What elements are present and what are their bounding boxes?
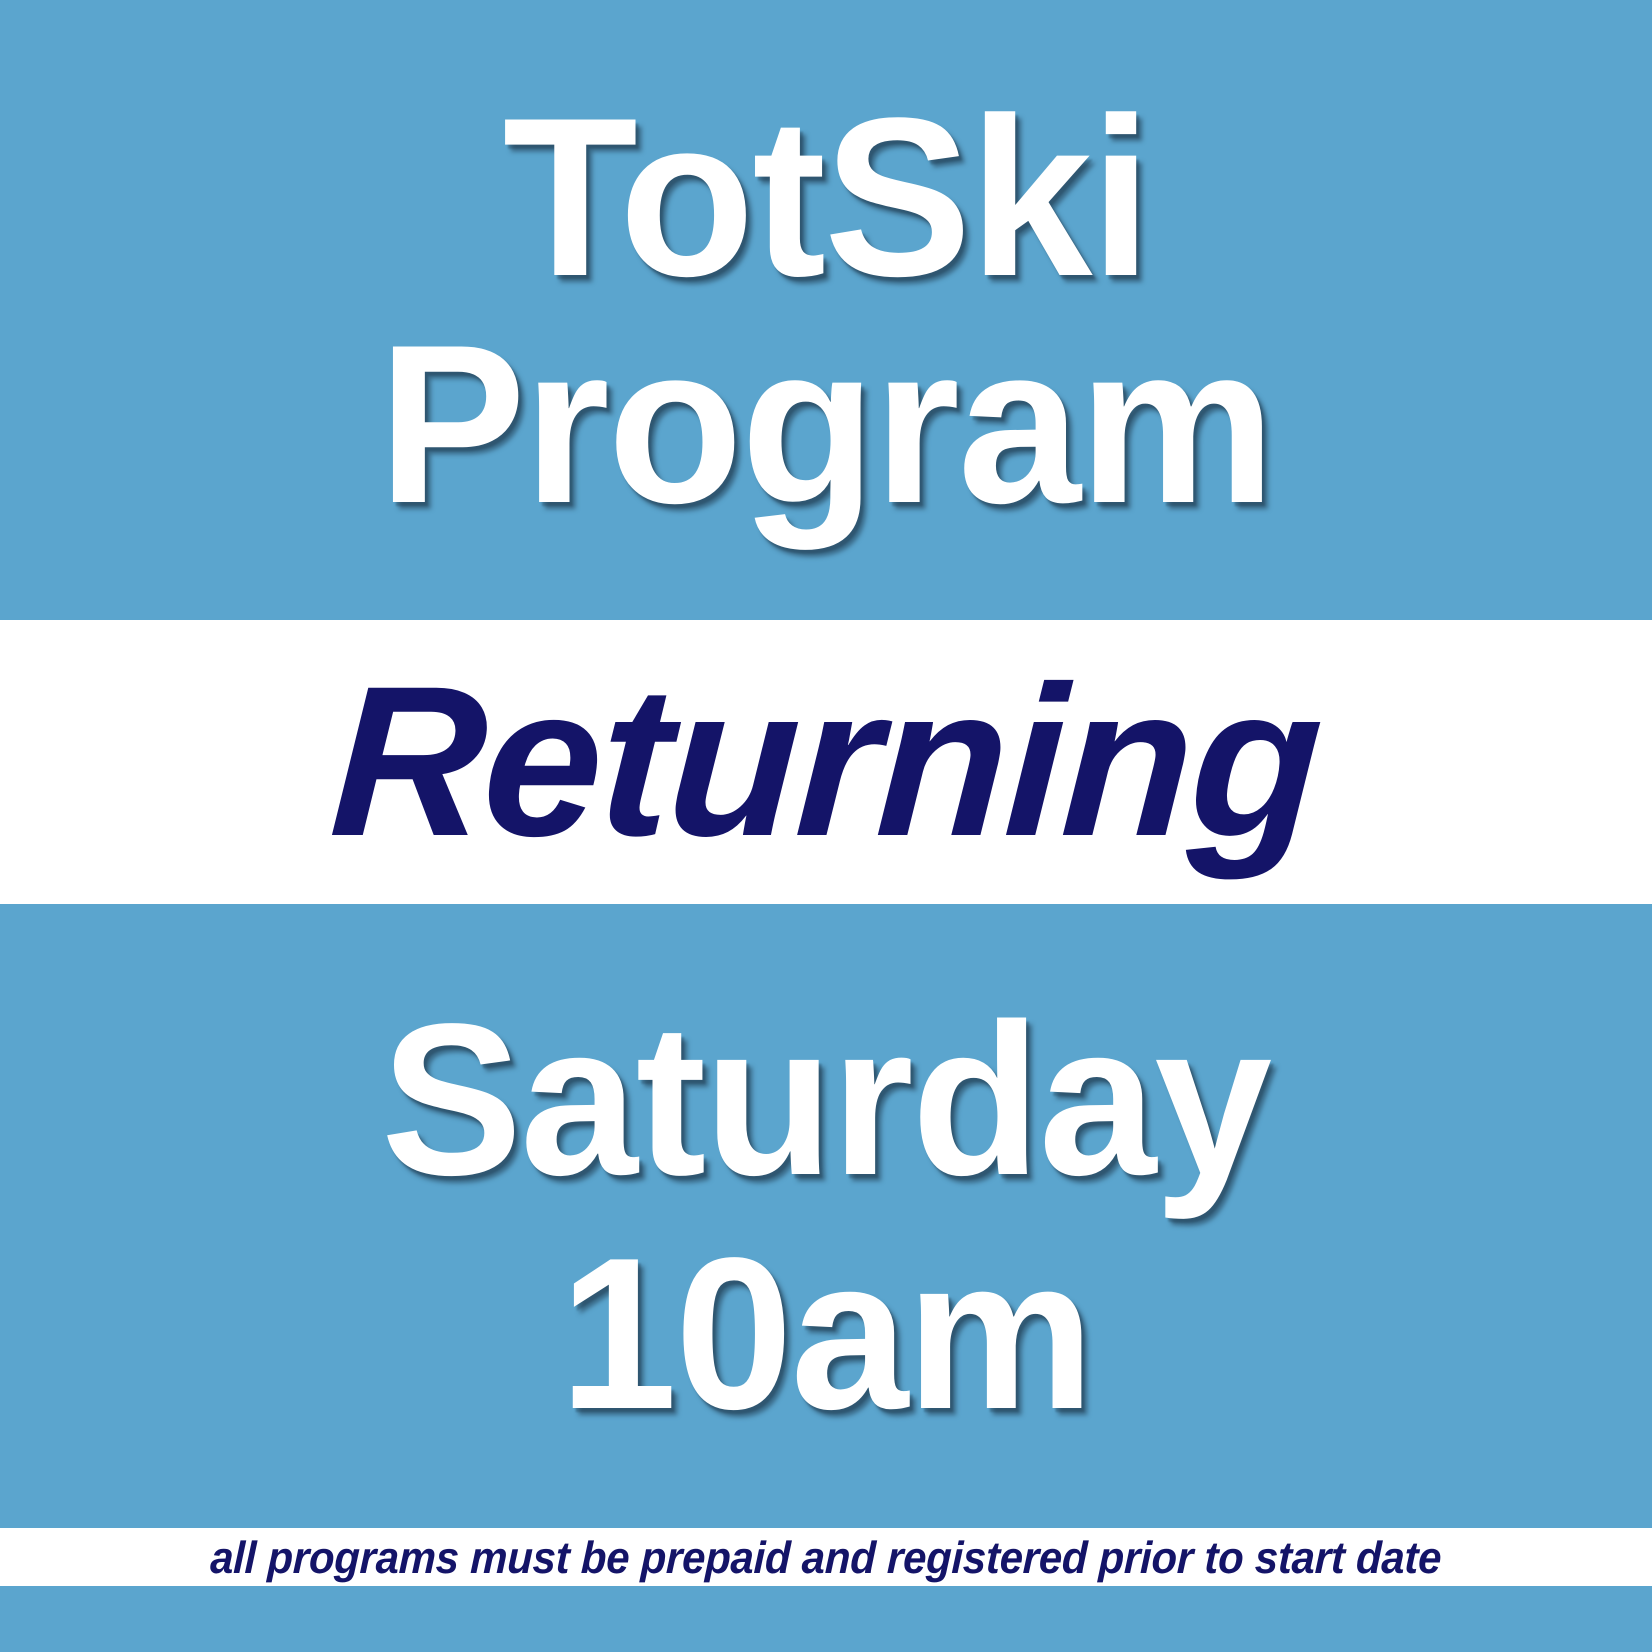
headline-block: TotSki Program xyxy=(0,0,1652,620)
highlight-word: Returning xyxy=(327,655,1326,869)
schedule-block: Saturday 10am xyxy=(0,904,1652,1528)
schedule-time: 10am xyxy=(560,1225,1093,1441)
footer-block: all programs must be prepaid and registe… xyxy=(0,1528,1652,1586)
highlight-block: Returning xyxy=(0,620,1652,904)
footer-disclaimer: all programs must be prepaid and registe… xyxy=(210,1535,1442,1580)
poster-canvas: TotSki Program Returning Saturday 10am a… xyxy=(0,0,1652,1652)
program-title-line-1: TotSki xyxy=(502,86,1149,307)
schedule-day: Saturday xyxy=(382,991,1271,1207)
bottom-blue-band xyxy=(0,1586,1652,1652)
program-title-line-2: Program xyxy=(378,313,1273,534)
